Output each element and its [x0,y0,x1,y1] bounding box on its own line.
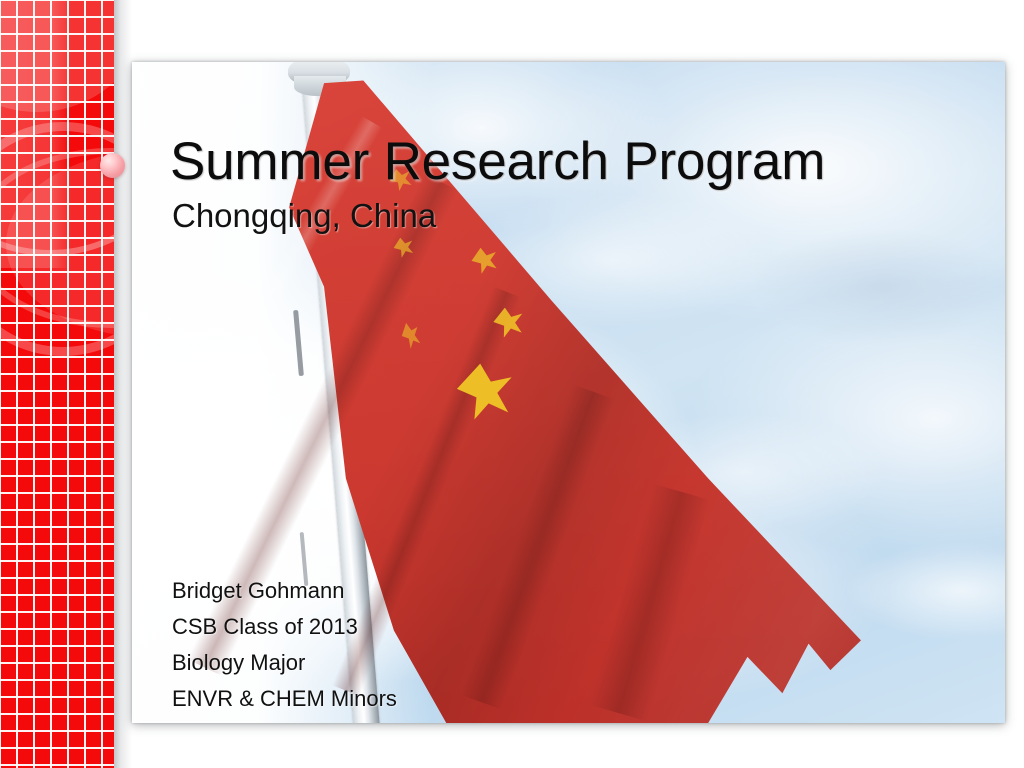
sidebar-edge-shadow [114,0,132,768]
author-major: Biology Major [172,650,397,675]
sidebar-circle-shape-2 [6,150,114,338]
author-minors: ENVR & CHEM Minors [172,686,397,711]
sidebar-circle-shape-1 [0,0,114,112]
sidebar-grid-pattern [0,0,114,768]
page-title: Summer Research Program [170,134,930,190]
sidebar-ring-icon-1 [0,0,114,256]
sidebar-ring-icon-3 [0,148,114,328]
author-class: CSB Class of 2013 [172,614,397,639]
sidebar-sphere-icon [100,153,125,178]
sidebar-tone-overlay [0,0,114,268]
decorative-sidebar [0,0,114,768]
page-subtitle: Chongqing, China [172,198,930,234]
author-name: Bridget Gohmann [172,578,397,603]
sidebar-ring-icon-2 [0,122,114,356]
author-block: Bridget Gohmann CSB Class of 2013 Biolog… [172,578,397,711]
title-block: Summer Research Program Chongqing, China [170,134,930,234]
presentation-slide: Summer Research Program Chongqing, China… [0,0,1024,768]
